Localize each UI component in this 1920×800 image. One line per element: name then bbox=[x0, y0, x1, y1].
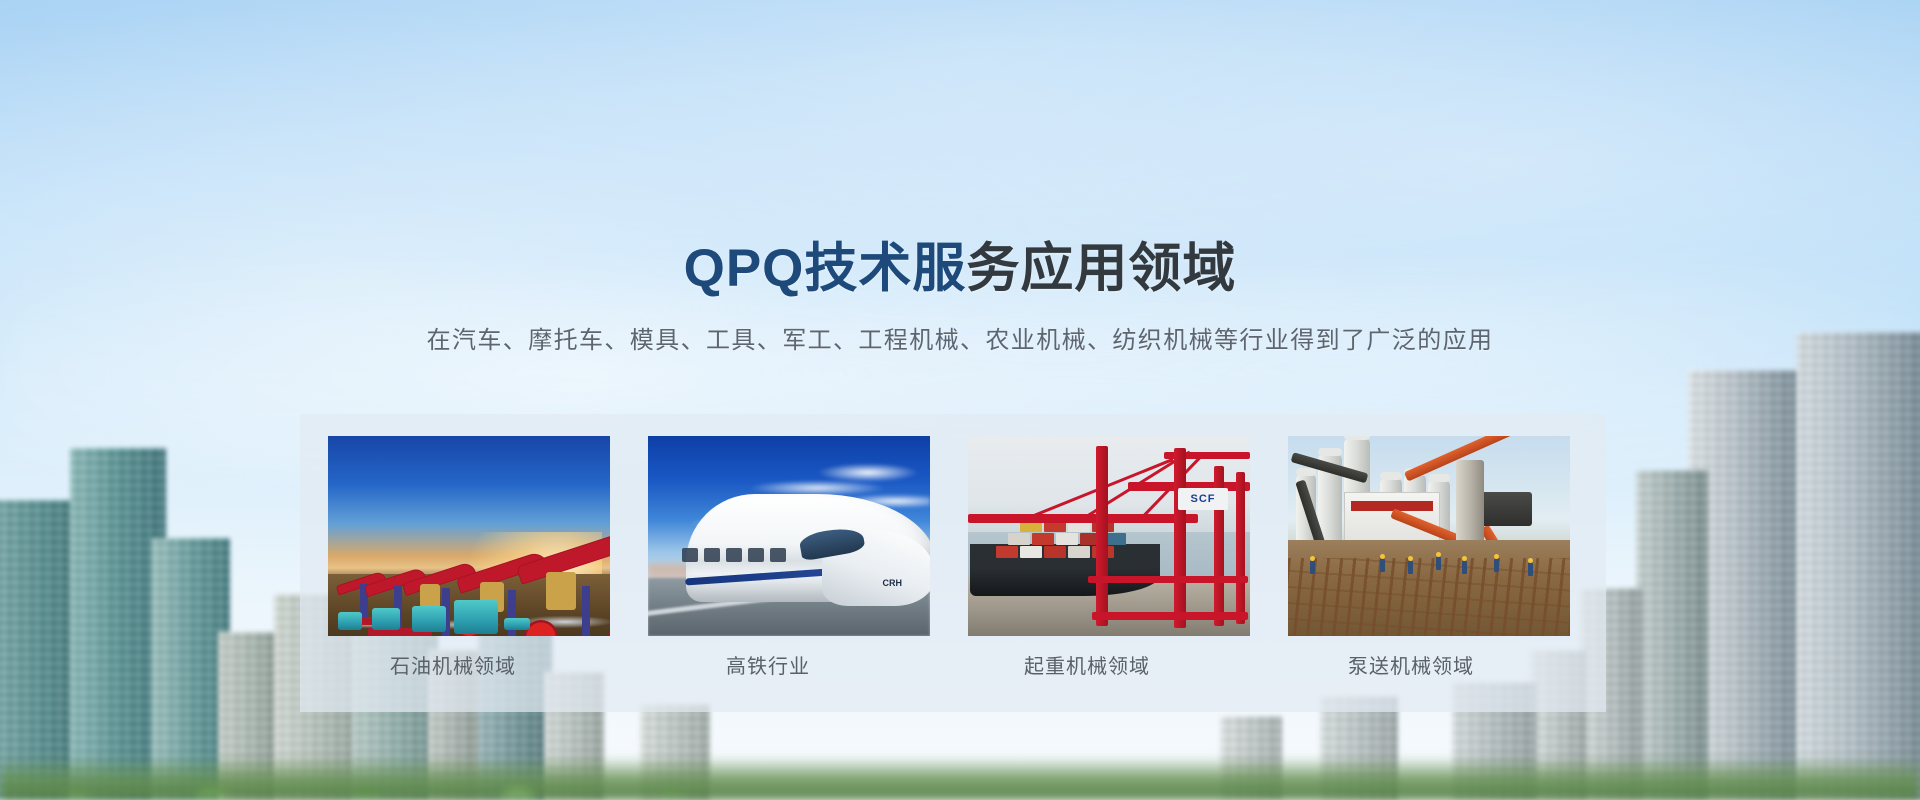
card-caption: 泵送机械领域 bbox=[1288, 650, 1570, 679]
port-container-gantry-cranes-image: SCF bbox=[968, 436, 1250, 636]
crane-cross-beam bbox=[1088, 576, 1248, 583]
hero-headings: QPQ技术服务应用领域 在汽车、摩托车、模具、工具、军工、工程机械、农业机械、纺… bbox=[0, 0, 1920, 355]
worker bbox=[1436, 557, 1441, 570]
worker bbox=[1380, 559, 1385, 572]
crane-cross-beam bbox=[1092, 612, 1248, 620]
oil-pumpjacks-at-sunset-image bbox=[328, 436, 610, 636]
crane-label: SCF bbox=[1178, 488, 1228, 510]
worker bbox=[1310, 561, 1315, 574]
worker bbox=[1462, 561, 1467, 574]
tree-line bbox=[0, 756, 1920, 800]
application-card-oil[interactable]: 石油机械领域 bbox=[328, 436, 610, 679]
crane-leg bbox=[1096, 446, 1108, 626]
building bbox=[1636, 470, 1708, 800]
container bbox=[1020, 546, 1042, 558]
high-speed-train-thumbnail[interactable]: CRH bbox=[648, 436, 930, 636]
port-cranes-thumbnail[interactable]: SCF bbox=[968, 436, 1250, 636]
application-card-pump[interactable]: 泵送机械领域 bbox=[1288, 436, 1570, 679]
wellhead-valve bbox=[412, 606, 446, 632]
train-logo: CRH bbox=[883, 578, 903, 588]
concrete-placing-boom-and-silos-image bbox=[1288, 436, 1570, 636]
application-card-crane[interactable]: SCF 起重机械领域 bbox=[968, 436, 1250, 679]
train-window bbox=[770, 548, 786, 562]
hero-banner: QPQ技术服务应用领域 在汽车、摩托车、模具、工具、军工、工程机械、农业机械、纺… bbox=[0, 0, 1920, 800]
page-title-primary: QPQ技术服 bbox=[684, 239, 967, 298]
container bbox=[1044, 546, 1066, 558]
card-caption: 高铁行业 bbox=[648, 650, 930, 679]
container bbox=[1068, 546, 1090, 558]
crane-leg bbox=[1174, 448, 1186, 628]
crane-boom bbox=[968, 514, 1198, 523]
worker bbox=[1528, 563, 1533, 576]
concrete-pump-thumbnail[interactable] bbox=[1288, 436, 1570, 636]
container bbox=[1008, 533, 1030, 545]
application-card-rail[interactable]: CRH 高铁行业 bbox=[648, 436, 930, 679]
card-caption: 石油机械领域 bbox=[328, 650, 610, 679]
card-caption: 起重机械领域 bbox=[968, 650, 1250, 679]
worker bbox=[1408, 561, 1413, 574]
container bbox=[1056, 533, 1078, 545]
wellhead-valve bbox=[372, 608, 400, 630]
container bbox=[996, 546, 1018, 558]
train-window bbox=[682, 548, 698, 562]
crane-leg bbox=[1236, 472, 1245, 624]
train-window bbox=[704, 548, 720, 562]
oil-pumpjacks-thumbnail[interactable] bbox=[328, 436, 610, 636]
wellhead-valve bbox=[338, 612, 362, 630]
train-window bbox=[726, 548, 742, 562]
page-subtitle: 在汽车、摩托车、模具、工具、军工、工程机械、农业机械、纺织机械等行业得到了广泛的… bbox=[0, 320, 1920, 355]
operator-cabin bbox=[1478, 492, 1532, 526]
worker bbox=[1494, 559, 1499, 572]
wellhead-valve bbox=[504, 618, 530, 630]
train-window bbox=[748, 548, 764, 562]
applications-panel: 石油机械领域 bbox=[300, 414, 1606, 712]
page-title-secondary: 务应用领域 bbox=[966, 239, 1236, 298]
page-title: QPQ技术服务应用领域 bbox=[0, 240, 1920, 298]
building bbox=[1796, 332, 1920, 800]
crh-high-speed-train-image: CRH bbox=[648, 436, 930, 636]
container bbox=[1032, 533, 1054, 545]
application-card-list: 石油机械领域 bbox=[300, 414, 1606, 712]
wellhead-valve bbox=[454, 600, 498, 634]
